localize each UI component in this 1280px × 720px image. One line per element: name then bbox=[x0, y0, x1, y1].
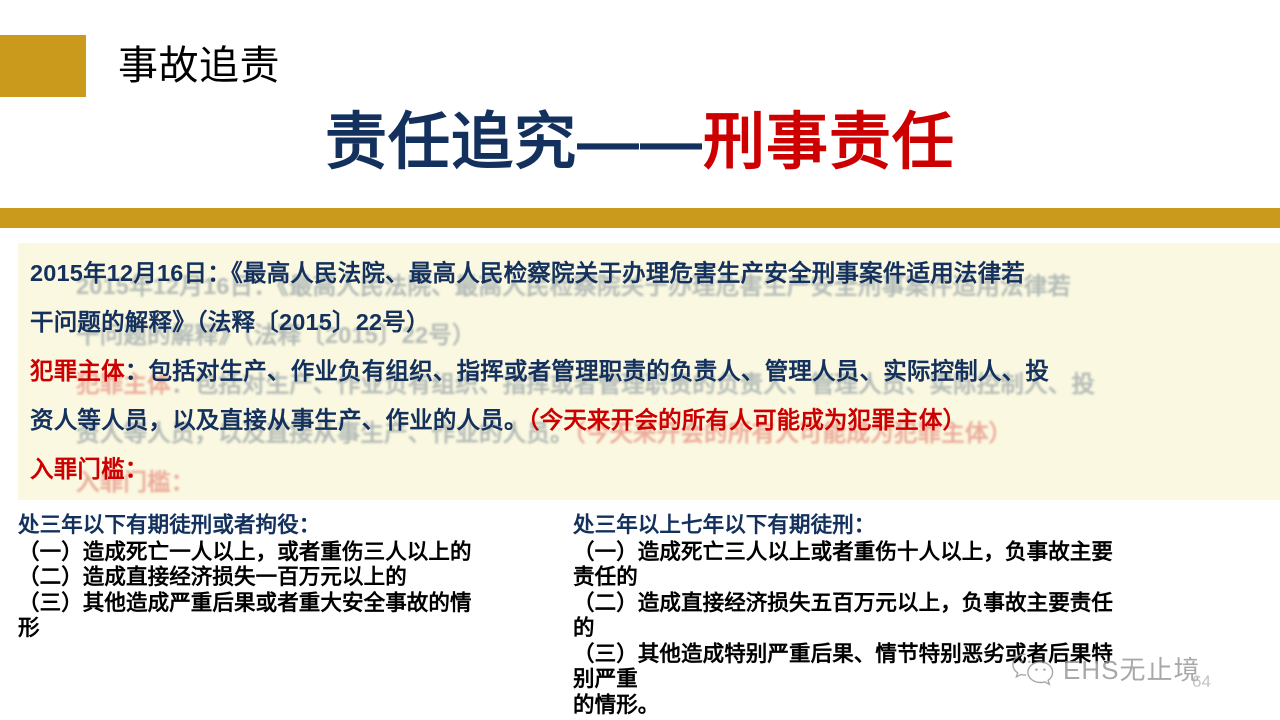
subject-remark: （今天来开会的所有人可能成为犯罪主体） bbox=[528, 407, 967, 433]
panel-text: 2015年12月16日：《最高人民法院、最高人民检察院关于办理危害生产安全刑事案… bbox=[30, 249, 1280, 494]
citation-text-2: 干问题的解释》（法释〔2015〕22号） bbox=[30, 309, 430, 335]
penalty-left-item-2: （二）造成直接经济损失一百万元以上的 bbox=[18, 565, 563, 591]
penalty-right-item-3-cont: 的情形。 bbox=[573, 693, 1133, 719]
subject-text-1: ：包括对生产、作业负有组织、指挥或者管理职责的负责人、管理人员、实际控制人、投 bbox=[125, 358, 1049, 384]
panel-line-subject-1: 犯罪主体：包括对生产、作业负有组织、指挥或者管理职责的负责人、管理人员、实际控制… bbox=[30, 347, 1280, 396]
section-label: 事故追责 bbox=[118, 38, 280, 94]
penalty-right-item-2: （二）造成直接经济损失五百万元以上，负事故主要责任的 bbox=[573, 591, 1133, 642]
citation-text-1: 2015年12月16日：《最高人民法院、最高人民检察院关于办理危害生产安全刑事案… bbox=[30, 260, 1025, 286]
page-title-accent: 刑事责任 bbox=[703, 108, 955, 177]
divider-bar bbox=[0, 208, 1280, 228]
wechat-icon bbox=[1010, 651, 1056, 687]
panel-line-threshold: 入罪门槛： bbox=[30, 445, 1280, 494]
page-title-dash: —— bbox=[577, 108, 703, 177]
page-title: 责任追究——刑事责任 bbox=[0, 104, 1280, 182]
penalty-right-item-1: （一）造成死亡三人以上或者重伤十人以上，负事故主要责任的 bbox=[573, 540, 1133, 591]
threshold-label: 入罪门槛： bbox=[30, 456, 149, 482]
panel-line-citation-2: 干问题的解释》（法释〔2015〕22号） bbox=[30, 298, 1280, 347]
penalty-left-item-3: （三）其他造成严重后果或者重大安全事故的情 bbox=[18, 591, 563, 617]
subject-label: 犯罪主体 bbox=[30, 358, 125, 384]
panel-line-subject-2: 资人等人员，以及直接从事生产、作业的人员。（今天来开会的所有人可能成为犯罪主体） bbox=[30, 396, 1280, 445]
penalty-left-heading: 处三年以下有期徒刑或者拘役： bbox=[18, 513, 563, 539]
penalty-column-left: 处三年以下有期徒刑或者拘役： （一）造成死亡一人以上，或者重伤三人以上的 （二）… bbox=[18, 513, 563, 642]
subject-text-2: 资人等人员，以及直接从事生产、作业的人员。 bbox=[30, 407, 528, 433]
penalty-right-heading: 处三年以上七年以下有期徒刑： bbox=[573, 513, 1133, 539]
header-accent-marker bbox=[0, 35, 86, 97]
penalty-column-right: 处三年以上七年以下有期徒刑： （一）造成死亡三人以上或者重伤十人以上，负事故主要… bbox=[573, 513, 1133, 718]
panel-line-citation-1: 2015年12月16日：《最高人民法院、最高人民检察院关于办理危害生产安全刑事案… bbox=[30, 249, 1280, 298]
penalty-left-item-1: （一）造成死亡一人以上，或者重伤三人以上的 bbox=[18, 540, 563, 566]
content-panel: 2015年12月16日：《最高人民法院、最高人民检察院关于办理危害生产安全刑事案… bbox=[18, 243, 1280, 500]
penalty-left-item-3-cont: 形 bbox=[18, 616, 563, 642]
watermark-text: EHS无止境 bbox=[1063, 650, 1200, 687]
watermark: EHS无止境 bbox=[1010, 650, 1200, 687]
page-number: 64 bbox=[1192, 672, 1211, 692]
page-title-primary: 责任追究 bbox=[325, 108, 577, 177]
